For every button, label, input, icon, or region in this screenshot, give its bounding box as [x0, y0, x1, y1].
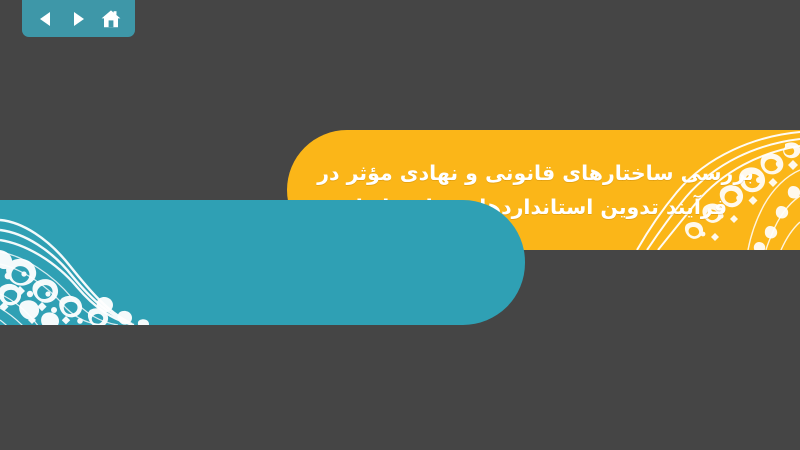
- home-button[interactable]: [98, 6, 124, 32]
- slide-canvas: بررسی ساختارهای قانونی و نهادی مؤثر در ف…: [0, 0, 800, 450]
- home-icon: [100, 8, 122, 30]
- title-line-1: بررسی ساختارهای قانونی و نهادی مؤثر در: [317, 156, 754, 190]
- back-button[interactable]: [33, 6, 59, 32]
- forward-button[interactable]: [65, 6, 91, 32]
- forward-icon: [68, 9, 88, 29]
- arabesque-corner-ornament-bottom-left: [0, 200, 175, 325]
- back-icon: [36, 9, 56, 29]
- navigation-bar: [22, 0, 135, 37]
- accent-band-teal: [0, 200, 525, 325]
